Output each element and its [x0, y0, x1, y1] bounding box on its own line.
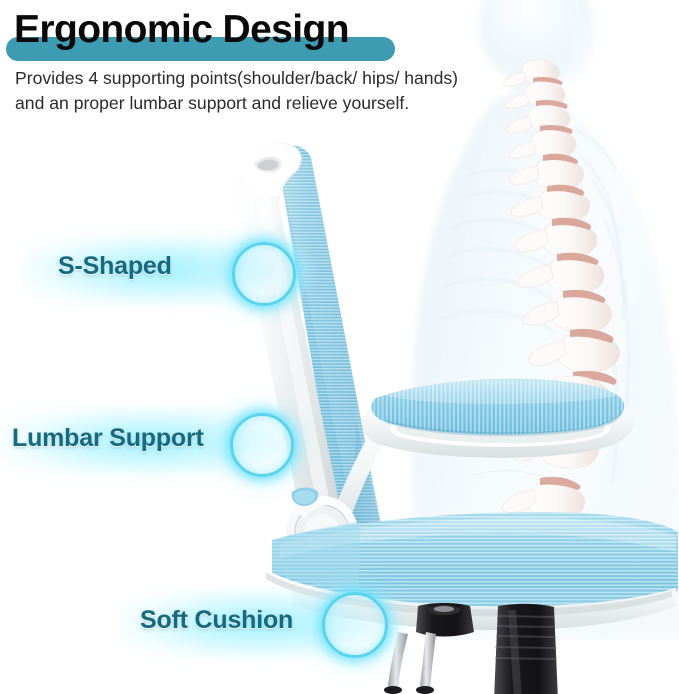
subtitle-line-1: Provides 4 supporting points(shoulder/ba… — [15, 66, 615, 91]
page-title: Ergonomic Design — [14, 6, 349, 54]
callout-soft-cushion: Soft Cushion — [118, 582, 408, 664]
callout-ring-marker — [230, 413, 294, 477]
callout-label: Lumbar Support — [12, 424, 204, 453]
callout-label: Soft Cushion — [140, 606, 293, 635]
callout-ring-marker — [232, 242, 296, 306]
subtitle-line-2: and an proper lumbar support and relieve… — [15, 91, 615, 116]
callout-s-shaped: S-Shaped — [18, 228, 318, 310]
callout-lumbar-support: Lumbar Support — [0, 400, 314, 482]
page-subtitle: Provides 4 supporting points(shoulder/ba… — [15, 66, 615, 116]
callout-ring-marker — [322, 592, 388, 658]
product-feature-image: Ergonomic Design Provides 4 supporting p… — [0, 0, 679, 694]
callout-label: S-Shaped — [58, 252, 172, 281]
